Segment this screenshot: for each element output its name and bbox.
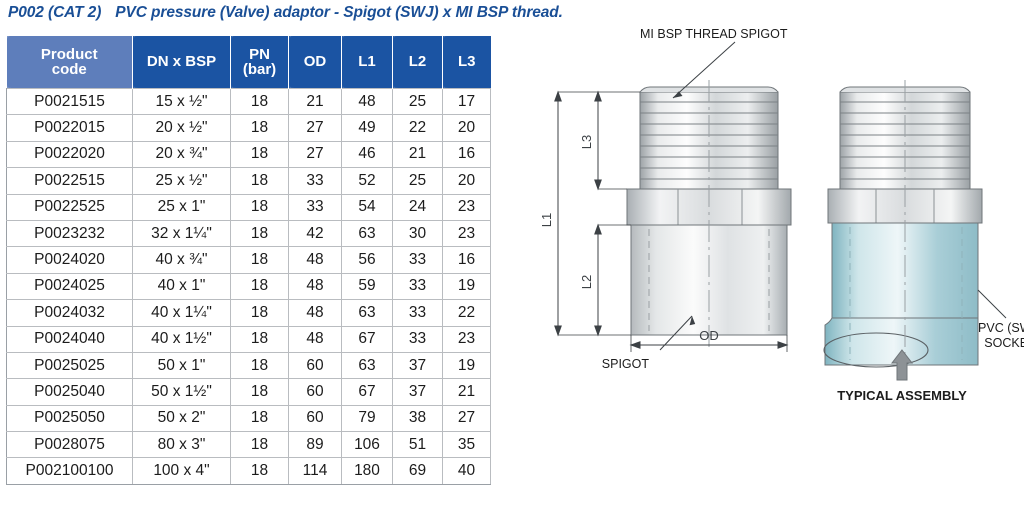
dimension-l3: L3 [579, 92, 627, 189]
table-cell-pn: 18 [231, 458, 289, 484]
table-cell-pn: 18 [231, 141, 289, 167]
table-cell-pn: 18 [231, 300, 289, 326]
table-cell-l1: 63 [342, 220, 393, 246]
table-cell-od: 60 [289, 352, 342, 378]
table-cell-l2: 25 [393, 89, 443, 115]
table-row: P002151515 x ½"1821482517 [7, 89, 491, 115]
dimension-label-l1: L1 [539, 213, 554, 227]
table-cell-code: P0024032 [7, 300, 133, 326]
table-header-row: Product code DN x BSP PN (bar) OD L1 L2 … [7, 36, 491, 89]
table-cell-pn: 18 [231, 432, 289, 458]
product-spec-table: Product code DN x BSP PN (bar) OD L1 L2 … [6, 36, 491, 485]
assembly-thread-section [840, 87, 970, 189]
dimension-label-od: OD [699, 328, 719, 343]
table-cell-pn: 18 [231, 273, 289, 299]
table-cell-code: P0025050 [7, 405, 133, 431]
table-cell-dn: 32 x 1¼" [133, 220, 231, 246]
table-cell-l1: 79 [342, 405, 393, 431]
column-header-od: OD [289, 36, 342, 89]
column-header-product-code-line2: code [52, 61, 87, 78]
table-row: P002202020 x ¾"1827462116 [7, 141, 491, 167]
table-row: P002402540 x 1"1848593319 [7, 273, 491, 299]
table-cell-code: P0028075 [7, 432, 133, 458]
table-cell-l3: 16 [443, 247, 491, 273]
table-cell-od: 48 [289, 273, 342, 299]
table-cell-l1: 106 [342, 432, 393, 458]
table-cell-l3: 22 [443, 300, 491, 326]
table-row: P002807580 x 3"18891065135 [7, 432, 491, 458]
table-cell-dn: 40 x 1¼" [133, 300, 231, 326]
table-cell-code: P0022515 [7, 168, 133, 194]
callout-label-pvc-socket-line1: PVC (SWJ) [978, 321, 1024, 335]
table-cell-l2: 22 [393, 115, 443, 141]
table-cell-l1: 67 [342, 326, 393, 352]
table-cell-l1: 46 [342, 141, 393, 167]
table-cell-pn: 18 [231, 379, 289, 405]
table-cell-l3: 19 [443, 352, 491, 378]
callout-label-spigot: SPIGOT [602, 357, 650, 371]
table-cell-l1: 48 [342, 89, 393, 115]
table-cell-pn: 18 [231, 220, 289, 246]
table-cell-code: P0022525 [7, 194, 133, 220]
table-cell-l3: 40 [443, 458, 491, 484]
table-cell-l3: 17 [443, 89, 491, 115]
callout-label-typical-assembly: TYPICAL ASSEMBLY [837, 388, 967, 403]
table-cell-code: P0022020 [7, 141, 133, 167]
table-cell-pn: 18 [231, 194, 289, 220]
table-cell-l3: 23 [443, 194, 491, 220]
table-row: P002404040 x 1½"1848673323 [7, 326, 491, 352]
table-row: P002100100100 x 4"181141806940 [7, 458, 491, 484]
table-cell-l2: 38 [393, 405, 443, 431]
table-cell-dn: 80 x 3" [133, 432, 231, 458]
table-cell-l3: 19 [443, 273, 491, 299]
callout-label-thread-spigot: MI BSP THREAD SPIGOT [640, 27, 788, 41]
product-diagram: L1 L3 L2 OD MI BSP THREAD SPIGOT SPIGOT [510, 20, 1024, 420]
page-title-code: P002 (CAT 2) [8, 4, 101, 21]
table-row: P002402040 x ¾"1848563316 [7, 247, 491, 273]
table-cell-dn: 25 x 1" [133, 194, 231, 220]
column-header-l3: L3 [443, 36, 491, 89]
dimension-l1: L1 [539, 92, 640, 335]
table-cell-od: 42 [289, 220, 342, 246]
table-cell-pn: 18 [231, 352, 289, 378]
table-cell-l2: 25 [393, 168, 443, 194]
table-cell-od: 48 [289, 300, 342, 326]
callout-pvc-socket: PVC (SWJ) SOCKET [978, 290, 1024, 350]
table-cell-l2: 51 [393, 432, 443, 458]
table-cell-code: P0024020 [7, 247, 133, 273]
column-header-l1: L1 [342, 36, 393, 89]
table-cell-od: 89 [289, 432, 342, 458]
table-cell-l2: 33 [393, 300, 443, 326]
table-cell-l2: 33 [393, 247, 443, 273]
table-cell-pn: 18 [231, 247, 289, 273]
table-cell-l1: 59 [342, 273, 393, 299]
table-cell-od: 48 [289, 326, 342, 352]
callout-label-pvc-socket-line2: SOCKET [984, 336, 1024, 350]
table-cell-l2: 24 [393, 194, 443, 220]
page-title-description: PVC pressure (Valve) adaptor - Spigot (S… [115, 4, 563, 21]
table-cell-l3: 20 [443, 115, 491, 141]
table-row: P002323232 x 1¼"1842633023 [7, 220, 491, 246]
table-cell-l3: 20 [443, 168, 491, 194]
table-cell-od: 21 [289, 89, 342, 115]
column-header-pn-line2: (bar) [243, 61, 276, 78]
column-header-pn: PN (bar) [231, 36, 289, 89]
table-cell-l1: 56 [342, 247, 393, 273]
table-row: P002502550 x 1"1860633719 [7, 352, 491, 378]
table-cell-l3: 16 [443, 141, 491, 167]
table-cell-code: P0025040 [7, 379, 133, 405]
table-cell-code: P0024040 [7, 326, 133, 352]
table-cell-l3: 23 [443, 326, 491, 352]
table-cell-od: 48 [289, 247, 342, 273]
table-cell-l3: 27 [443, 405, 491, 431]
table-cell-dn: 20 x ½" [133, 115, 231, 141]
pvc-socket [824, 223, 978, 367]
table-cell-dn: 15 x ½" [133, 89, 231, 115]
table-row: P002505050 x 2"1860793827 [7, 405, 491, 431]
table-cell-od: 60 [289, 405, 342, 431]
table-cell-od: 27 [289, 115, 342, 141]
table-cell-od: 27 [289, 141, 342, 167]
table-cell-dn: 50 x 2" [133, 405, 231, 431]
table-row: P002403240 x 1¼"1848633322 [7, 300, 491, 326]
table-cell-l3: 23 [443, 220, 491, 246]
table-cell-l2: 37 [393, 352, 443, 378]
table-cell-l1: 54 [342, 194, 393, 220]
table-cell-l2: 21 [393, 141, 443, 167]
table-cell-dn: 40 x 1½" [133, 326, 231, 352]
table-cell-l2: 33 [393, 326, 443, 352]
table-row: P002251525 x ½"1833522520 [7, 168, 491, 194]
table-cell-l2: 33 [393, 273, 443, 299]
column-header-product-code: Product code [7, 36, 133, 89]
table-cell-l2: 69 [393, 458, 443, 484]
table-cell-l2: 37 [393, 379, 443, 405]
table-cell-l1: 63 [342, 352, 393, 378]
thread-section [640, 87, 778, 189]
assembly-drawing [824, 80, 982, 372]
table-cell-dn: 25 x ½" [133, 168, 231, 194]
table-cell-l1: 63 [342, 300, 393, 326]
table-cell-od: 60 [289, 379, 342, 405]
fitting-drawing [627, 80, 791, 350]
table-cell-l2: 30 [393, 220, 443, 246]
table-cell-pn: 18 [231, 168, 289, 194]
table-cell-code: P0025025 [7, 352, 133, 378]
column-header-dn-bsp: DN x BSP [133, 36, 231, 89]
table-cell-code: P0024025 [7, 273, 133, 299]
table-cell-l1: 49 [342, 115, 393, 141]
dimension-label-l3: L3 [579, 135, 594, 149]
table-cell-l3: 21 [443, 379, 491, 405]
table-cell-l1: 180 [342, 458, 393, 484]
table-cell-od: 33 [289, 168, 342, 194]
table-cell-pn: 18 [231, 405, 289, 431]
table-cell-dn: 50 x 1½" [133, 379, 231, 405]
table-cell-dn: 40 x ¾" [133, 247, 231, 273]
table-cell-od: 33 [289, 194, 342, 220]
dimension-label-l2: L2 [579, 275, 594, 289]
table-cell-od: 114 [289, 458, 342, 484]
table-cell-code: P0023232 [7, 220, 133, 246]
table-cell-l1: 67 [342, 379, 393, 405]
table-cell-pn: 18 [231, 89, 289, 115]
table-cell-pn: 18 [231, 115, 289, 141]
column-header-l2: L2 [393, 36, 443, 89]
table-cell-dn: 20 x ¾" [133, 141, 231, 167]
table-cell-dn: 40 x 1" [133, 273, 231, 299]
table-cell-code: P002100100 [7, 458, 133, 484]
page-title: P002 (CAT 2)PVC pressure (Valve) adaptor… [8, 4, 563, 22]
table-cell-l1: 52 [342, 168, 393, 194]
table-cell-code: P0022015 [7, 115, 133, 141]
table-cell-dn: 50 x 1" [133, 352, 231, 378]
table-cell-l3: 35 [443, 432, 491, 458]
table-row: P002201520 x ½"1827492220 [7, 115, 491, 141]
table-body: P002151515 x ½"1821482517P002201520 x ½"… [7, 89, 491, 485]
spec-table-container: Product code DN x BSP PN (bar) OD L1 L2 … [6, 36, 490, 485]
table-row: P002252525 x 1"1833542423 [7, 194, 491, 220]
table-cell-pn: 18 [231, 326, 289, 352]
table-cell-code: P0021515 [7, 89, 133, 115]
dimension-l2: L2 [579, 225, 631, 335]
table-row: P002504050 x 1½"1860673721 [7, 379, 491, 405]
table-cell-dn: 100 x 4" [133, 458, 231, 484]
